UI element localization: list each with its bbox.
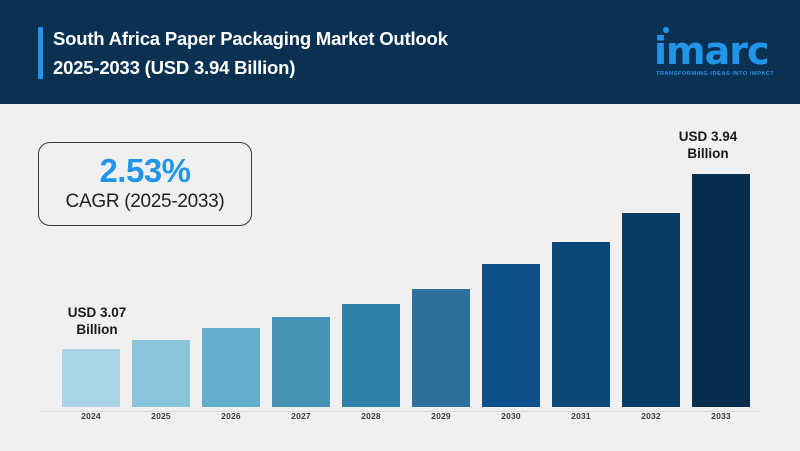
title-line-2: 2025-2033 (USD 3.94 Billion) [53,53,633,82]
bar-2024 [62,349,120,407]
page-title: South Africa Paper Packaging Market Outl… [53,24,633,82]
imarc-logo: imarc TRANSFORMING IDEAS INTO IMPACT [654,26,774,82]
bar-2027 [272,317,330,407]
bar-2025 [132,340,190,407]
bar-year-label-2031: 2031 [552,411,610,421]
logo-tagline: TRANSFORMING IDEAS INTO IMPACT [656,71,774,77]
bar-year-label-2026: 2026 [202,411,260,421]
last-bar-value-line-2: Billion [648,145,768,162]
infographic-root: South Africa Paper Packaging Market Outl… [0,0,800,451]
header-bar: South Africa Paper Packaging Market Outl… [0,0,800,104]
bar-2029 [412,289,470,407]
bar-year-label-2032: 2032 [622,411,680,421]
bar-2032 [622,213,680,407]
title-line-1: South Africa Paper Packaging Market Outl… [53,24,633,53]
bar-year-label-2024: 2024 [62,411,120,421]
bar-2030 [482,264,540,407]
bar-year-label-2033: 2033 [692,411,750,421]
logo-wordmark: imarc [654,32,774,70]
bar-2033 [692,174,750,407]
bar-2031 [552,242,610,407]
bar-chart: USD 3.07 Billion USD 3.94 Billion 202420… [0,104,800,451]
bar-year-label-2027: 2027 [272,411,330,421]
bar-2028 [342,304,400,407]
bar-year-label-2029: 2029 [412,411,470,421]
bar-2026 [202,328,260,407]
header-accent-bar [38,27,43,79]
last-bar-value-line-1: USD 3.94 [648,128,768,145]
last-bar-value-label: USD 3.94 Billion [648,128,768,162]
first-bar-value-line-1: USD 3.07 [37,304,157,321]
first-bar-value-label: USD 3.07 Billion [37,304,157,338]
bar-year-label-2025: 2025 [132,411,190,421]
bar-year-label-2028: 2028 [342,411,400,421]
bar-year-label-2030: 2030 [482,411,540,421]
first-bar-value-line-2: Billion [37,321,157,338]
